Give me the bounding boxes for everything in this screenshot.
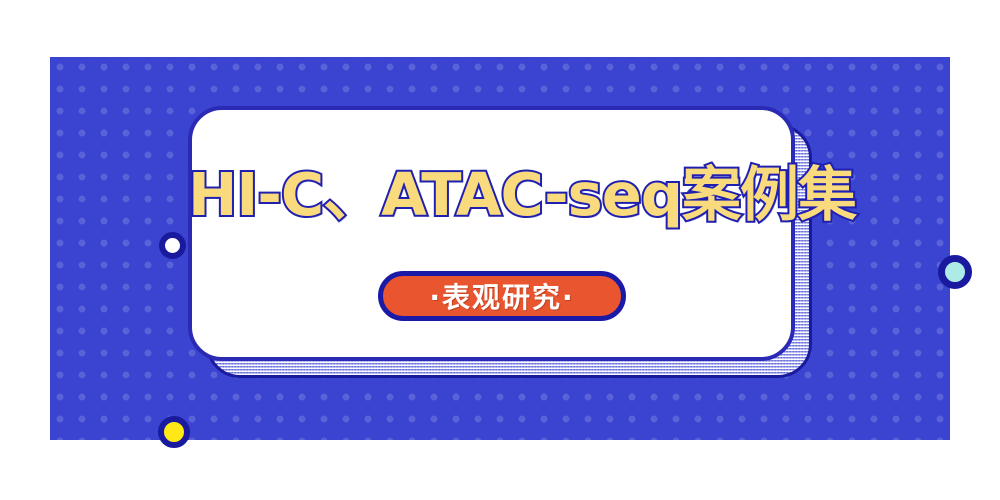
subtitle-pill-label: ·表观研究· (429, 276, 574, 316)
banner-stage: HI-C、ATAC-seq案例集 ·表观研究· (0, 0, 1000, 500)
page-title: HI-C、ATAC-seq案例集 (188, 152, 808, 238)
decorative-circle-white-icon (159, 232, 186, 259)
decorative-circle-yellow-icon (158, 416, 190, 448)
subtitle-pill-badge[interactable]: ·表观研究· (378, 271, 626, 321)
decorative-circle-cyan-icon (938, 255, 972, 289)
